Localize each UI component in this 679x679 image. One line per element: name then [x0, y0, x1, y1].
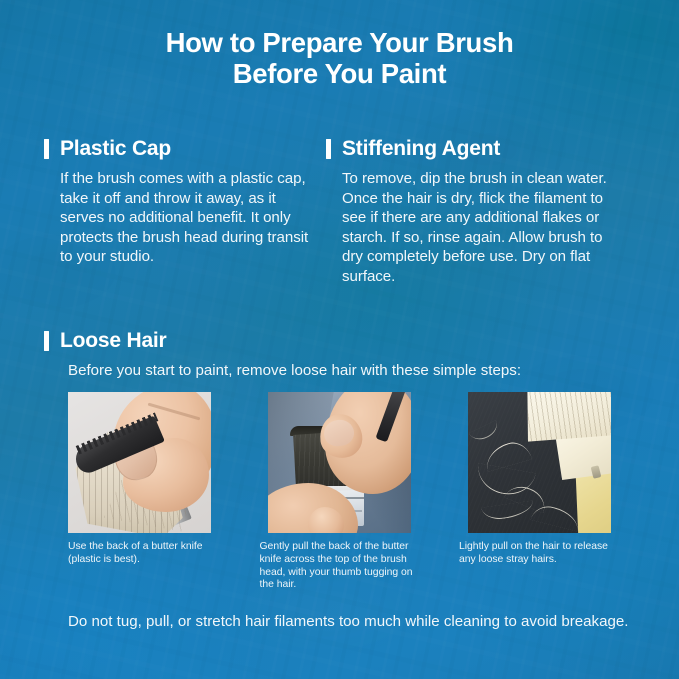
step-caption-3: Lightly pull on the hair to release any …	[459, 541, 611, 592]
step-photo-row	[68, 392, 611, 533]
section-loose-hair-header: Loose Hair	[44, 330, 636, 352]
page-title: How to Prepare Your Brush Before You Pai…	[0, 27, 679, 89]
section-plastic-cap-heading: Plastic Cap	[60, 138, 171, 160]
step-caption-1: Use the back of a butter knife (plastic …	[68, 541, 220, 592]
section-stiffening-agent-heading: Stiffening Agent	[342, 138, 500, 160]
accent-bar-icon	[44, 139, 49, 159]
section-plastic-cap: Plastic Cap If the brush comes with a pl…	[44, 138, 312, 267]
section-loose-hair-intro: Before you start to paint, remove loose …	[68, 361, 636, 381]
step-caption-row: Use the back of a butter knife (plastic …	[68, 541, 611, 592]
footer-warning-note: Do not tug, pull, or stretch hair filame…	[68, 612, 630, 632]
photo-pulling-knife-across-brush-head	[268, 392, 411, 533]
poster-content: How to Prepare Your Brush Before You Pai…	[0, 0, 679, 679]
accent-bar-icon	[44, 331, 49, 351]
section-stiffening-agent-header: Stiffening Agent	[326, 138, 626, 160]
section-plastic-cap-body: If the brush comes with a plastic cap, t…	[60, 169, 312, 267]
page-title-line-1: How to Prepare Your Brush	[0, 27, 679, 58]
infographic-poster: How to Prepare Your Brush Before You Pai…	[0, 0, 679, 679]
section-loose-hair-heading: Loose Hair	[60, 330, 167, 352]
section-plastic-cap-header: Plastic Cap	[44, 138, 312, 160]
section-stiffening-agent-body: To remove, dip the brush in clean water.…	[342, 169, 626, 287]
step-caption-2: Gently pull the back of the butter knife…	[260, 541, 420, 592]
section-stiffening-agent: Stiffening Agent To remove, dip the brus…	[326, 138, 626, 287]
section-loose-hair: Loose Hair Before you start to paint, re…	[44, 330, 636, 381]
accent-bar-icon	[326, 139, 331, 159]
page-title-line-2: Before You Paint	[0, 58, 679, 89]
photo-knife-on-brush-hair	[68, 392, 211, 533]
photo-loose-stray-hairs-on-dark-surface	[468, 392, 611, 533]
